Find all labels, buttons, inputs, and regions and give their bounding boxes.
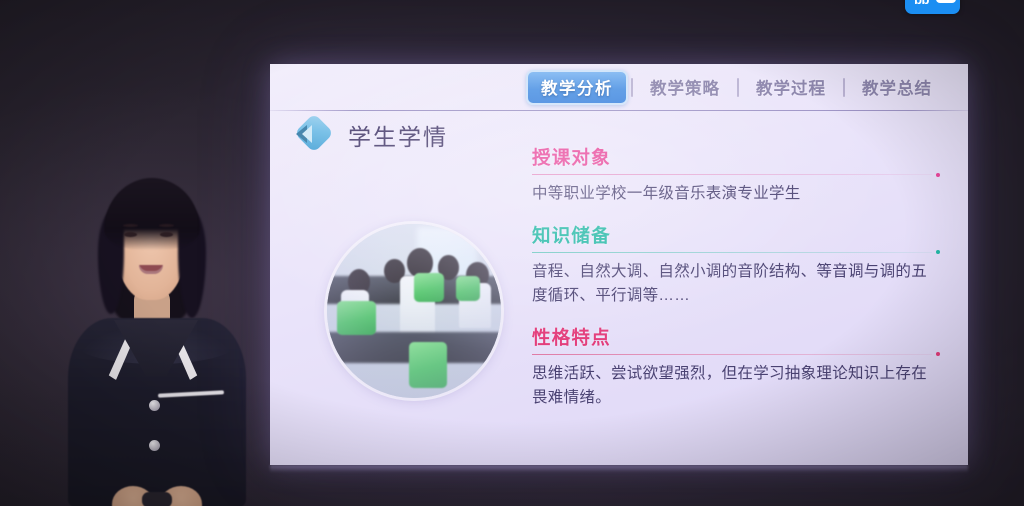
slide-reflection (270, 465, 968, 472)
presenter-eye-left (124, 232, 137, 237)
block-audience: 授课对象 中等职业学校一年级音乐表演专业学生 (532, 146, 942, 207)
video-frame: 教学分析 教学策略 教学过程 教学总结 学生学情 (0, 0, 1024, 506)
tab-teaching-process[interactable]: 教学过程 (742, 75, 840, 99)
channel-watermark-badge[interactable]: bb (905, 0, 960, 14)
presenter-eyebrow-right (159, 224, 174, 227)
slide-tab-bar: 教学分析 教学策略 教学过程 教学总结 (270, 64, 968, 110)
block-personality-heading: 性格特点 (532, 326, 942, 349)
tab-divider (843, 78, 845, 97)
tab-teaching-analysis[interactable]: 教学分析 (526, 70, 628, 105)
block-personality: 性格特点 思维活跃、尝试欲望强烈，但在学习抽象理论知识上存在畏难情绪。 (532, 326, 942, 411)
presenter-eyebrow-left (123, 224, 138, 227)
presenter-figure (62, 170, 252, 506)
tab-divider (737, 78, 739, 97)
tab-bar-underline (270, 110, 968, 111)
watermark-pill-label (936, 0, 956, 3)
presentation-slide: 教学分析 教学策略 教学过程 教学总结 学生学情 (270, 64, 968, 465)
block-audience-heading: 授课对象 (532, 146, 942, 169)
classroom-students-photo (327, 224, 501, 398)
block-knowledge-body: 音程、自然大调、自然小调的音阶结构、等音调与调的五度循环、平行调等…… (532, 260, 942, 309)
block-audience-rule (532, 174, 942, 175)
watermark-logo: bb (910, 0, 933, 6)
presentation-clicker-icon (142, 492, 172, 506)
block-knowledge: 知识储备 音程、自然大调、自然小调的音阶结构、等音调与调的五度循环、平行调等…… (532, 224, 942, 309)
tab-divider (631, 78, 633, 97)
block-audience-body: 中等职业学校一年级音乐表演专业学生 (532, 182, 942, 206)
presenter-button-bottom (149, 440, 160, 451)
tab-teaching-summary[interactable]: 教学总结 (848, 75, 946, 99)
presenter-button-top (149, 400, 160, 411)
tab-teaching-strategy[interactable]: 教学策略 (636, 75, 734, 99)
block-knowledge-rule (532, 252, 942, 253)
block-personality-rule (532, 354, 942, 355)
block-personality-body: 思维活跃、尝试欲望强烈，但在学习抽象理论知识上存在畏难情绪。 (532, 362, 942, 411)
presenter-hair-front (104, 178, 200, 250)
block-knowledge-heading: 知识储备 (532, 224, 942, 247)
section-title-label: 学生学情 (348, 118, 448, 152)
student-profile-blocks: 授课对象 中等职业学校一年级音乐表演专业学生 知识储备 音程、自然大调、自然小调… (532, 146, 942, 428)
presenter-eye-right (160, 232, 173, 237)
diamond-chevron-icon (296, 116, 334, 154)
section-title: 学生学情 (296, 116, 448, 154)
